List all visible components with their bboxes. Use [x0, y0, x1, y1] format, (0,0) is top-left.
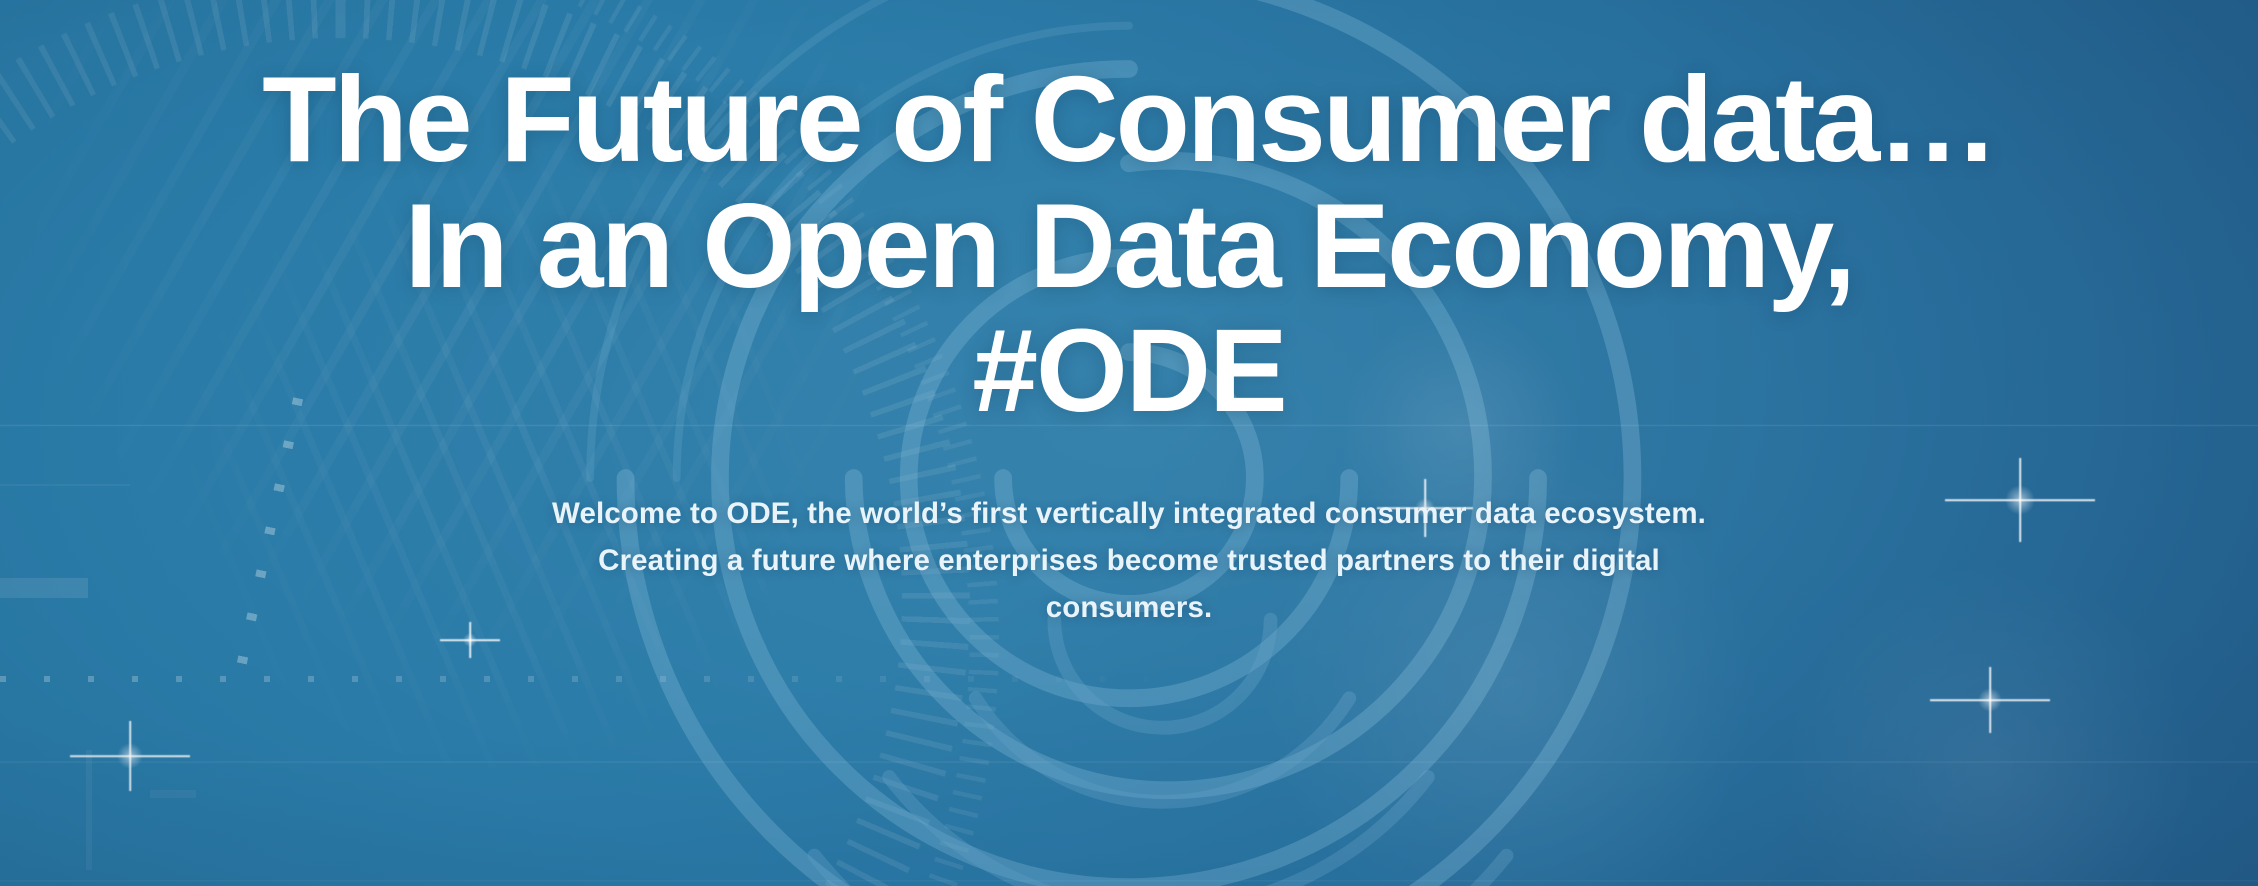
headline-line-2: In an Open Data Economy,: [44, 186, 2214, 306]
headline-line-1: The Future of Consumer data…: [44, 58, 2214, 180]
page-title: The Future of Consumer data… In an Open …: [44, 58, 2214, 430]
headline-line-3: #ODE: [44, 312, 2214, 430]
hero-banner: The Future of Consumer data… In an Open …: [0, 0, 2258, 886]
hero-content: The Future of Consumer data… In an Open …: [0, 0, 2258, 886]
hero-subtitle: Welcome to ODE, the world’s first vertic…: [539, 490, 1719, 632]
